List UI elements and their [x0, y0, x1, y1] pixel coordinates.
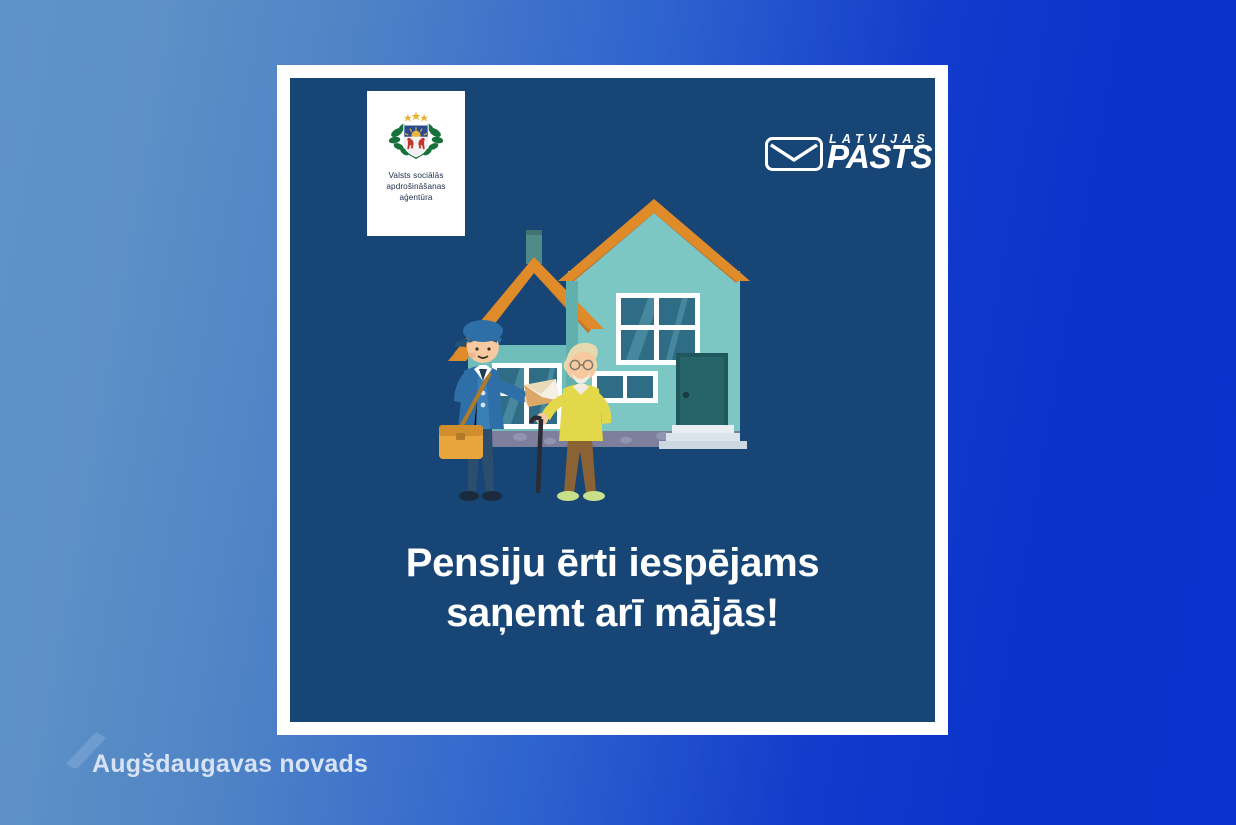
poster-headline: Pensiju ērti iespējams saņemt arī mājās!: [290, 538, 935, 638]
latvijas-pasts-logo: LATVIJAS PASTS: [765, 126, 920, 176]
vsaa-line-2: apdrošināšanas: [370, 181, 462, 192]
walking-cane: [538, 419, 541, 493]
headline-line-2: saņemt arī mājās!: [290, 588, 935, 638]
latvijas-pasts-main-word: PASTS: [827, 140, 932, 173]
poster-frame: Valsts sociālās apdrošināšanas aģentūra …: [277, 65, 948, 735]
poster-canvas: Valsts sociālās apdrošināšanas aģentūra …: [290, 78, 935, 722]
caption-text: Augšdaugavas novads: [92, 750, 368, 779]
page-root: Valsts sociālās apdrošināšanas aģentūra …: [0, 0, 1236, 825]
house-door: [676, 353, 728, 433]
postman-bag: [439, 425, 483, 459]
postman-and-senior-illustration: [420, 193, 820, 523]
headline-line-1: Pensiju ērti iespējams: [406, 541, 820, 585]
envelope-icon: [765, 136, 823, 172]
vsaa-line-1: Valsts sociālās: [370, 170, 462, 181]
latvian-coat-of-arms-icon: [387, 108, 445, 164]
house-steps: [659, 425, 747, 449]
